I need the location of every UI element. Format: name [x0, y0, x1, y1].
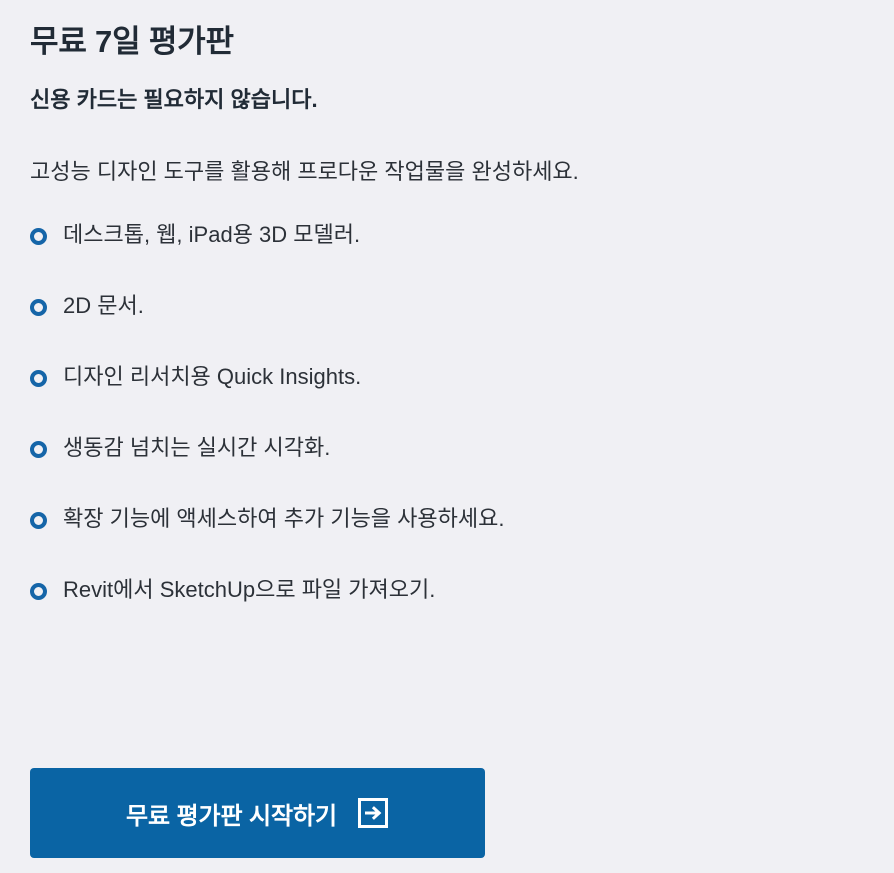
list-item: 생동감 넘치는 실시간 시각화.: [30, 433, 864, 504]
free-trial-promo-panel: 무료 7일 평가판 신용 카드는 필요하지 않습니다. 고성능 디자인 도구를 …: [0, 0, 894, 873]
list-item: Revit에서 SketchUp으로 파일 가져오기.: [30, 575, 864, 646]
page-title: 무료 7일 평가판: [30, 22, 864, 62]
feature-item-label: 확장 기능에 액세스하여 추가 기능을 사용하세요.: [63, 504, 504, 534]
start-free-trial-label: 무료 평가판 시작하기: [126, 796, 337, 831]
promo-subheading: 신용 카드는 필요하지 않습니다.: [30, 85, 864, 115]
feature-item-label: Revit에서 SketchUp으로 파일 가져오기.: [63, 575, 435, 605]
cta-container: 무료 평가판 시작하기: [30, 768, 485, 858]
promo-description: 고성능 디자인 도구를 활용해 프로다운 작업물을 완성하세요.: [30, 157, 864, 188]
start-free-trial-button[interactable]: 무료 평가판 시작하기: [30, 768, 485, 858]
ring-bullet-icon: [30, 512, 47, 529]
list-item: 디자인 리서치용 Quick Insights.: [30, 362, 864, 433]
list-item: 확장 기능에 액세스하여 추가 기능을 사용하세요.: [30, 504, 864, 575]
feature-item-label: 데스크톱, 웹, iPad용 3D 모델러.: [63, 220, 360, 250]
ring-bullet-icon: [30, 583, 47, 600]
arrow-right-in-square-icon: [357, 797, 389, 829]
feature-item-label: 디자인 리서치용 Quick Insights.: [63, 362, 361, 392]
feature-item-label: 생동감 넘치는 실시간 시각화.: [63, 433, 330, 463]
list-item: 데스크톱, 웹, iPad용 3D 모델러.: [30, 220, 864, 291]
ring-bullet-icon: [30, 370, 47, 387]
feature-item-label: 2D 문서.: [63, 291, 144, 321]
feature-list: 데스크톱, 웹, iPad용 3D 모델러. 2D 문서. 디자인 리서치용 Q…: [30, 220, 864, 646]
list-item: 2D 문서.: [30, 291, 864, 362]
ring-bullet-icon: [30, 299, 47, 316]
ring-bullet-icon: [30, 228, 47, 245]
ring-bullet-icon: [30, 441, 47, 458]
